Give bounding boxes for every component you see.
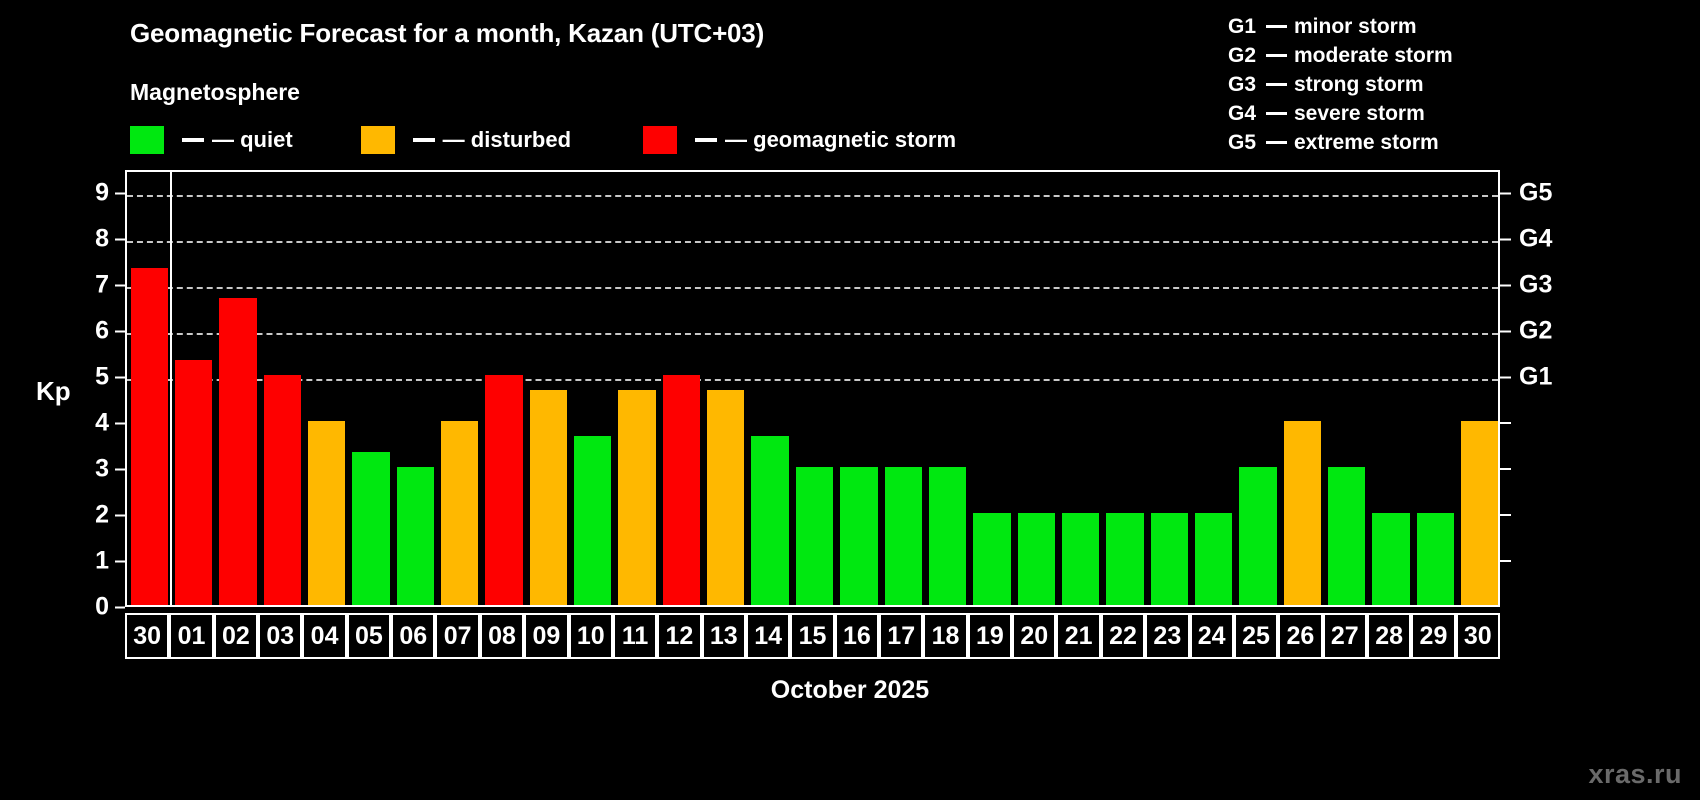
date-label-box: 10	[569, 613, 613, 659]
bar-day-20[interactable]	[1018, 513, 1055, 605]
g-scale-row-g1: G1minor storm	[1228, 12, 1628, 41]
g-axis-tick-label: G1	[1519, 363, 1552, 392]
g-axis-tick-mark-icon	[1500, 192, 1511, 194]
g-scale-code: G1	[1228, 15, 1262, 39]
date-label-box: 03	[258, 613, 302, 659]
date-label-box: 09	[524, 613, 568, 659]
date-label: 17	[887, 624, 915, 649]
date-label: 16	[843, 624, 871, 649]
legend-label-disturbed: — disturbed	[443, 127, 571, 153]
bar-day-09[interactable]	[530, 390, 567, 605]
date-label-box: 26	[1278, 613, 1322, 659]
bar-day-07[interactable]	[441, 421, 478, 605]
date-label: 03	[266, 624, 294, 649]
date-label-box: 17	[879, 613, 923, 659]
y-axis-tick-label: 6	[95, 317, 109, 346]
g-scale-label: extreme storm	[1294, 131, 1439, 155]
bar-day-10[interactable]	[574, 436, 611, 605]
y-axis-tick: 5	[95, 363, 125, 392]
legend-label-storm: — geomagnetic storm	[725, 127, 956, 153]
g-scale-label: moderate storm	[1294, 44, 1453, 68]
y-axis-tick: 4	[95, 409, 125, 438]
date-label: 04	[311, 624, 339, 649]
g-axis-tick-label: G3	[1519, 271, 1552, 300]
legend-dash-icon	[182, 138, 204, 142]
g-axis-tick-mark-icon	[1500, 284, 1511, 286]
bar-day-18[interactable]	[929, 467, 966, 605]
g-scale-code: G4	[1228, 102, 1262, 126]
date-label-box: 22	[1101, 613, 1145, 659]
g-axis-minor-tick	[1500, 468, 1519, 470]
date-label-box: 28	[1367, 613, 1411, 659]
legend-swatch-storm-icon	[643, 126, 677, 154]
g-axis-minor-tick	[1500, 560, 1519, 562]
y-axis-tick: 8	[95, 225, 125, 254]
legend-label-quiet: — quiet	[212, 127, 293, 153]
date-label: 10	[577, 624, 605, 649]
y-axis-tick-label: 2	[95, 501, 109, 530]
date-label: 09	[532, 624, 560, 649]
date-label: 21	[1065, 624, 1093, 649]
date-label-box: 12	[657, 613, 701, 659]
bar-day-17[interactable]	[885, 467, 922, 605]
y-axis-tick-label: 1	[95, 547, 109, 576]
date-label: 30	[1464, 624, 1492, 649]
date-label: 28	[1375, 624, 1403, 649]
y-axis-tick-label: 8	[95, 225, 109, 254]
date-label: 26	[1286, 624, 1314, 649]
bar-day-26[interactable]	[1284, 421, 1321, 605]
g-axis-tick-mark-icon	[1500, 422, 1511, 424]
date-label: 25	[1242, 624, 1270, 649]
legend-item-disturbed: — disturbed	[361, 126, 571, 154]
g-axis-tick-mark-icon	[1500, 514, 1511, 516]
month-separator	[170, 172, 172, 605]
date-label: 01	[178, 624, 206, 649]
date-label-box: 14	[746, 613, 790, 659]
magnetosphere-legend: — quiet — disturbed — geomagnetic storm	[130, 125, 956, 155]
g-scale-label: strong storm	[1294, 73, 1424, 97]
date-label: 19	[976, 624, 1004, 649]
g-scale-dash-icon	[1266, 83, 1287, 86]
g-scale-dash-icon	[1266, 141, 1287, 144]
geomagnetic-forecast-chart: Geomagnetic Forecast for a month, Kazan …	[0, 0, 1700, 800]
date-label-box: 30	[1456, 613, 1500, 659]
date-label-box: 27	[1323, 613, 1367, 659]
bar-day-27[interactable]	[1328, 467, 1365, 605]
date-label: 15	[799, 624, 827, 649]
date-label: 06	[399, 624, 427, 649]
date-label: 07	[444, 624, 472, 649]
g-scale-row-g4: G4severe storm	[1228, 99, 1628, 128]
date-label-box: 13	[702, 613, 746, 659]
watermark: xras.ru	[1588, 759, 1682, 790]
page-title: Geomagnetic Forecast for a month, Kazan …	[130, 18, 764, 49]
g-axis-tick: G1	[1500, 363, 1552, 392]
bar-day-15[interactable]	[796, 467, 833, 605]
y-axis-tick: 9	[95, 179, 125, 208]
g-axis-tick-mark-icon	[1500, 238, 1511, 240]
bar-day-25[interactable]	[1239, 467, 1276, 605]
y-axis-tick-mark-icon	[115, 468, 125, 470]
g-scale-dash-icon	[1266, 54, 1287, 57]
bar-day-01[interactable]	[175, 360, 212, 605]
y-axis-tick-mark-icon	[115, 560, 125, 562]
y-axis-tick: 0	[95, 593, 125, 622]
g-scale-row-g5: G5extreme storm	[1228, 128, 1628, 157]
y-axis-tick-mark-icon	[115, 514, 125, 516]
date-label-box: 16	[835, 613, 879, 659]
legend-swatch-disturbed-icon	[361, 126, 395, 154]
y-axis-tick-label: 0	[95, 593, 109, 622]
bar-day-28[interactable]	[1372, 513, 1409, 605]
g-axis-tick-label: G2	[1519, 317, 1552, 346]
g-scale-row-g3: G3strong storm	[1228, 70, 1628, 99]
bar-day-04[interactable]	[308, 421, 345, 605]
y-axis-title: Kp	[36, 376, 71, 407]
date-label-box: 21	[1056, 613, 1100, 659]
y-axis-tick: 2	[95, 501, 125, 530]
y-axis-tick-mark-icon	[115, 330, 125, 332]
bar-day-02[interactable]	[219, 298, 256, 605]
g-axis-minor-tick	[1500, 514, 1519, 516]
date-label-box: 07	[435, 613, 479, 659]
bars-layer	[127, 172, 1498, 605]
date-label-box: 06	[391, 613, 435, 659]
g-scale-legend: G1minor stormG2moderate stormG3strong st…	[1228, 12, 1628, 157]
date-label-box: 11	[613, 613, 657, 659]
date-label: 22	[1109, 624, 1137, 649]
date-label-box: 04	[302, 613, 346, 659]
y-axis-tick-mark-icon	[115, 284, 125, 286]
g-scale-dash-icon	[1266, 25, 1287, 28]
g-axis-tick: G3	[1500, 271, 1552, 300]
bar-day-14[interactable]	[751, 436, 788, 605]
date-label: 20	[1020, 624, 1048, 649]
y-axis-tick: 6	[95, 317, 125, 346]
y-axis-tick-mark-icon	[115, 192, 125, 194]
date-label: 02	[222, 624, 250, 649]
g-axis-tick: G4	[1500, 225, 1552, 254]
g-axis-minor-tick	[1500, 422, 1519, 424]
y-axis-tick-mark-icon	[115, 376, 125, 378]
x-axis-dates: 3001020304050607080910111213141516171819…	[125, 613, 1500, 659]
bar-day-05[interactable]	[352, 452, 389, 605]
bar-day-23[interactable]	[1151, 513, 1188, 605]
date-label: 08	[488, 624, 516, 649]
date-label-box: 23	[1145, 613, 1189, 659]
bar-day-24[interactable]	[1195, 513, 1232, 605]
date-label-box: 05	[347, 613, 391, 659]
g-scale-label: severe storm	[1294, 102, 1425, 126]
date-label-box: 01	[169, 613, 213, 659]
date-label-box: 20	[1012, 613, 1056, 659]
date-label: 05	[355, 624, 383, 649]
g-axis-tick: G2	[1500, 317, 1552, 346]
date-label: 29	[1420, 624, 1448, 649]
plot-area	[125, 170, 1500, 607]
right-g-axis: G1G2G3G4G5	[1500, 170, 1695, 607]
g-axis-tick-label: G5	[1519, 179, 1552, 208]
legend-swatch-quiet-icon	[130, 126, 164, 154]
date-label-box: 24	[1190, 613, 1234, 659]
g-scale-row-g2: G2moderate storm	[1228, 41, 1628, 70]
bar-day-16[interactable]	[840, 467, 877, 605]
date-label: 13	[710, 624, 738, 649]
legend-item-quiet: — quiet	[130, 126, 293, 154]
g-axis-tick-mark-icon	[1500, 560, 1511, 562]
bar-day-11[interactable]	[618, 390, 655, 605]
legend-item-storm: — geomagnetic storm	[643, 126, 956, 154]
bar-day-03[interactable]	[264, 375, 301, 605]
date-label-box: 08	[480, 613, 524, 659]
date-label: 27	[1331, 624, 1359, 649]
date-label: 23	[1153, 624, 1181, 649]
date-label-box: 02	[214, 613, 258, 659]
bar-day-06[interactable]	[397, 467, 434, 605]
y-axis-tick-mark-icon	[115, 422, 125, 424]
g-axis-tick-label: G4	[1519, 225, 1552, 254]
y-axis-tick: 3	[95, 455, 125, 484]
date-label: 14	[754, 624, 782, 649]
bar-day-13[interactable]	[707, 390, 744, 605]
g-scale-code: G2	[1228, 44, 1262, 68]
date-label: 24	[1198, 624, 1226, 649]
date-label-box: 18	[923, 613, 967, 659]
g-axis-tick-mark-icon	[1500, 468, 1511, 470]
bar-day-12[interactable]	[663, 375, 700, 605]
month-label: October 2025	[0, 676, 1700, 705]
y-axis-tick-label: 4	[95, 409, 109, 438]
g-scale-code: G3	[1228, 73, 1262, 97]
g-axis-tick-mark-icon	[1500, 376, 1511, 378]
date-label: 11	[622, 624, 648, 649]
g-scale-dash-icon	[1266, 112, 1287, 115]
y-axis-tick-label: 7	[95, 271, 109, 300]
y-axis-tick-label: 9	[95, 179, 109, 208]
legend-dash-icon	[695, 138, 717, 142]
date-label-box: 25	[1234, 613, 1278, 659]
date-label-box: 30	[125, 613, 169, 659]
y-axis-tick-label: 5	[95, 363, 109, 392]
g-scale-label: minor storm	[1294, 15, 1417, 39]
bar-day-08[interactable]	[485, 375, 522, 605]
y-axis-tick-mark-icon	[115, 238, 125, 240]
g-scale-code: G5	[1228, 131, 1262, 155]
date-label: 12	[666, 624, 694, 649]
date-label: 30	[133, 624, 161, 649]
bar-day-19[interactable]	[973, 513, 1010, 605]
date-label-box: 15	[790, 613, 834, 659]
bar-day-29[interactable]	[1417, 513, 1454, 605]
y-axis-tick: 7	[95, 271, 125, 300]
g-axis-tick-mark-icon	[1500, 330, 1511, 332]
legend-dash-icon	[413, 138, 435, 142]
bar-day-21[interactable]	[1062, 513, 1099, 605]
legend-heading: Magnetosphere	[130, 79, 300, 106]
g-axis-tick: G5	[1500, 179, 1552, 208]
bar-day-30[interactable]	[131, 268, 168, 605]
y-axis-tick-mark-icon	[115, 606, 125, 608]
bar-day-22[interactable]	[1106, 513, 1143, 605]
date-label-box: 29	[1411, 613, 1455, 659]
y-axis-tick: 1	[95, 547, 125, 576]
bar-day-30[interactable]	[1461, 421, 1498, 605]
date-label: 18	[932, 624, 960, 649]
y-axis-tick-label: 3	[95, 455, 109, 484]
date-label-box: 19	[968, 613, 1012, 659]
